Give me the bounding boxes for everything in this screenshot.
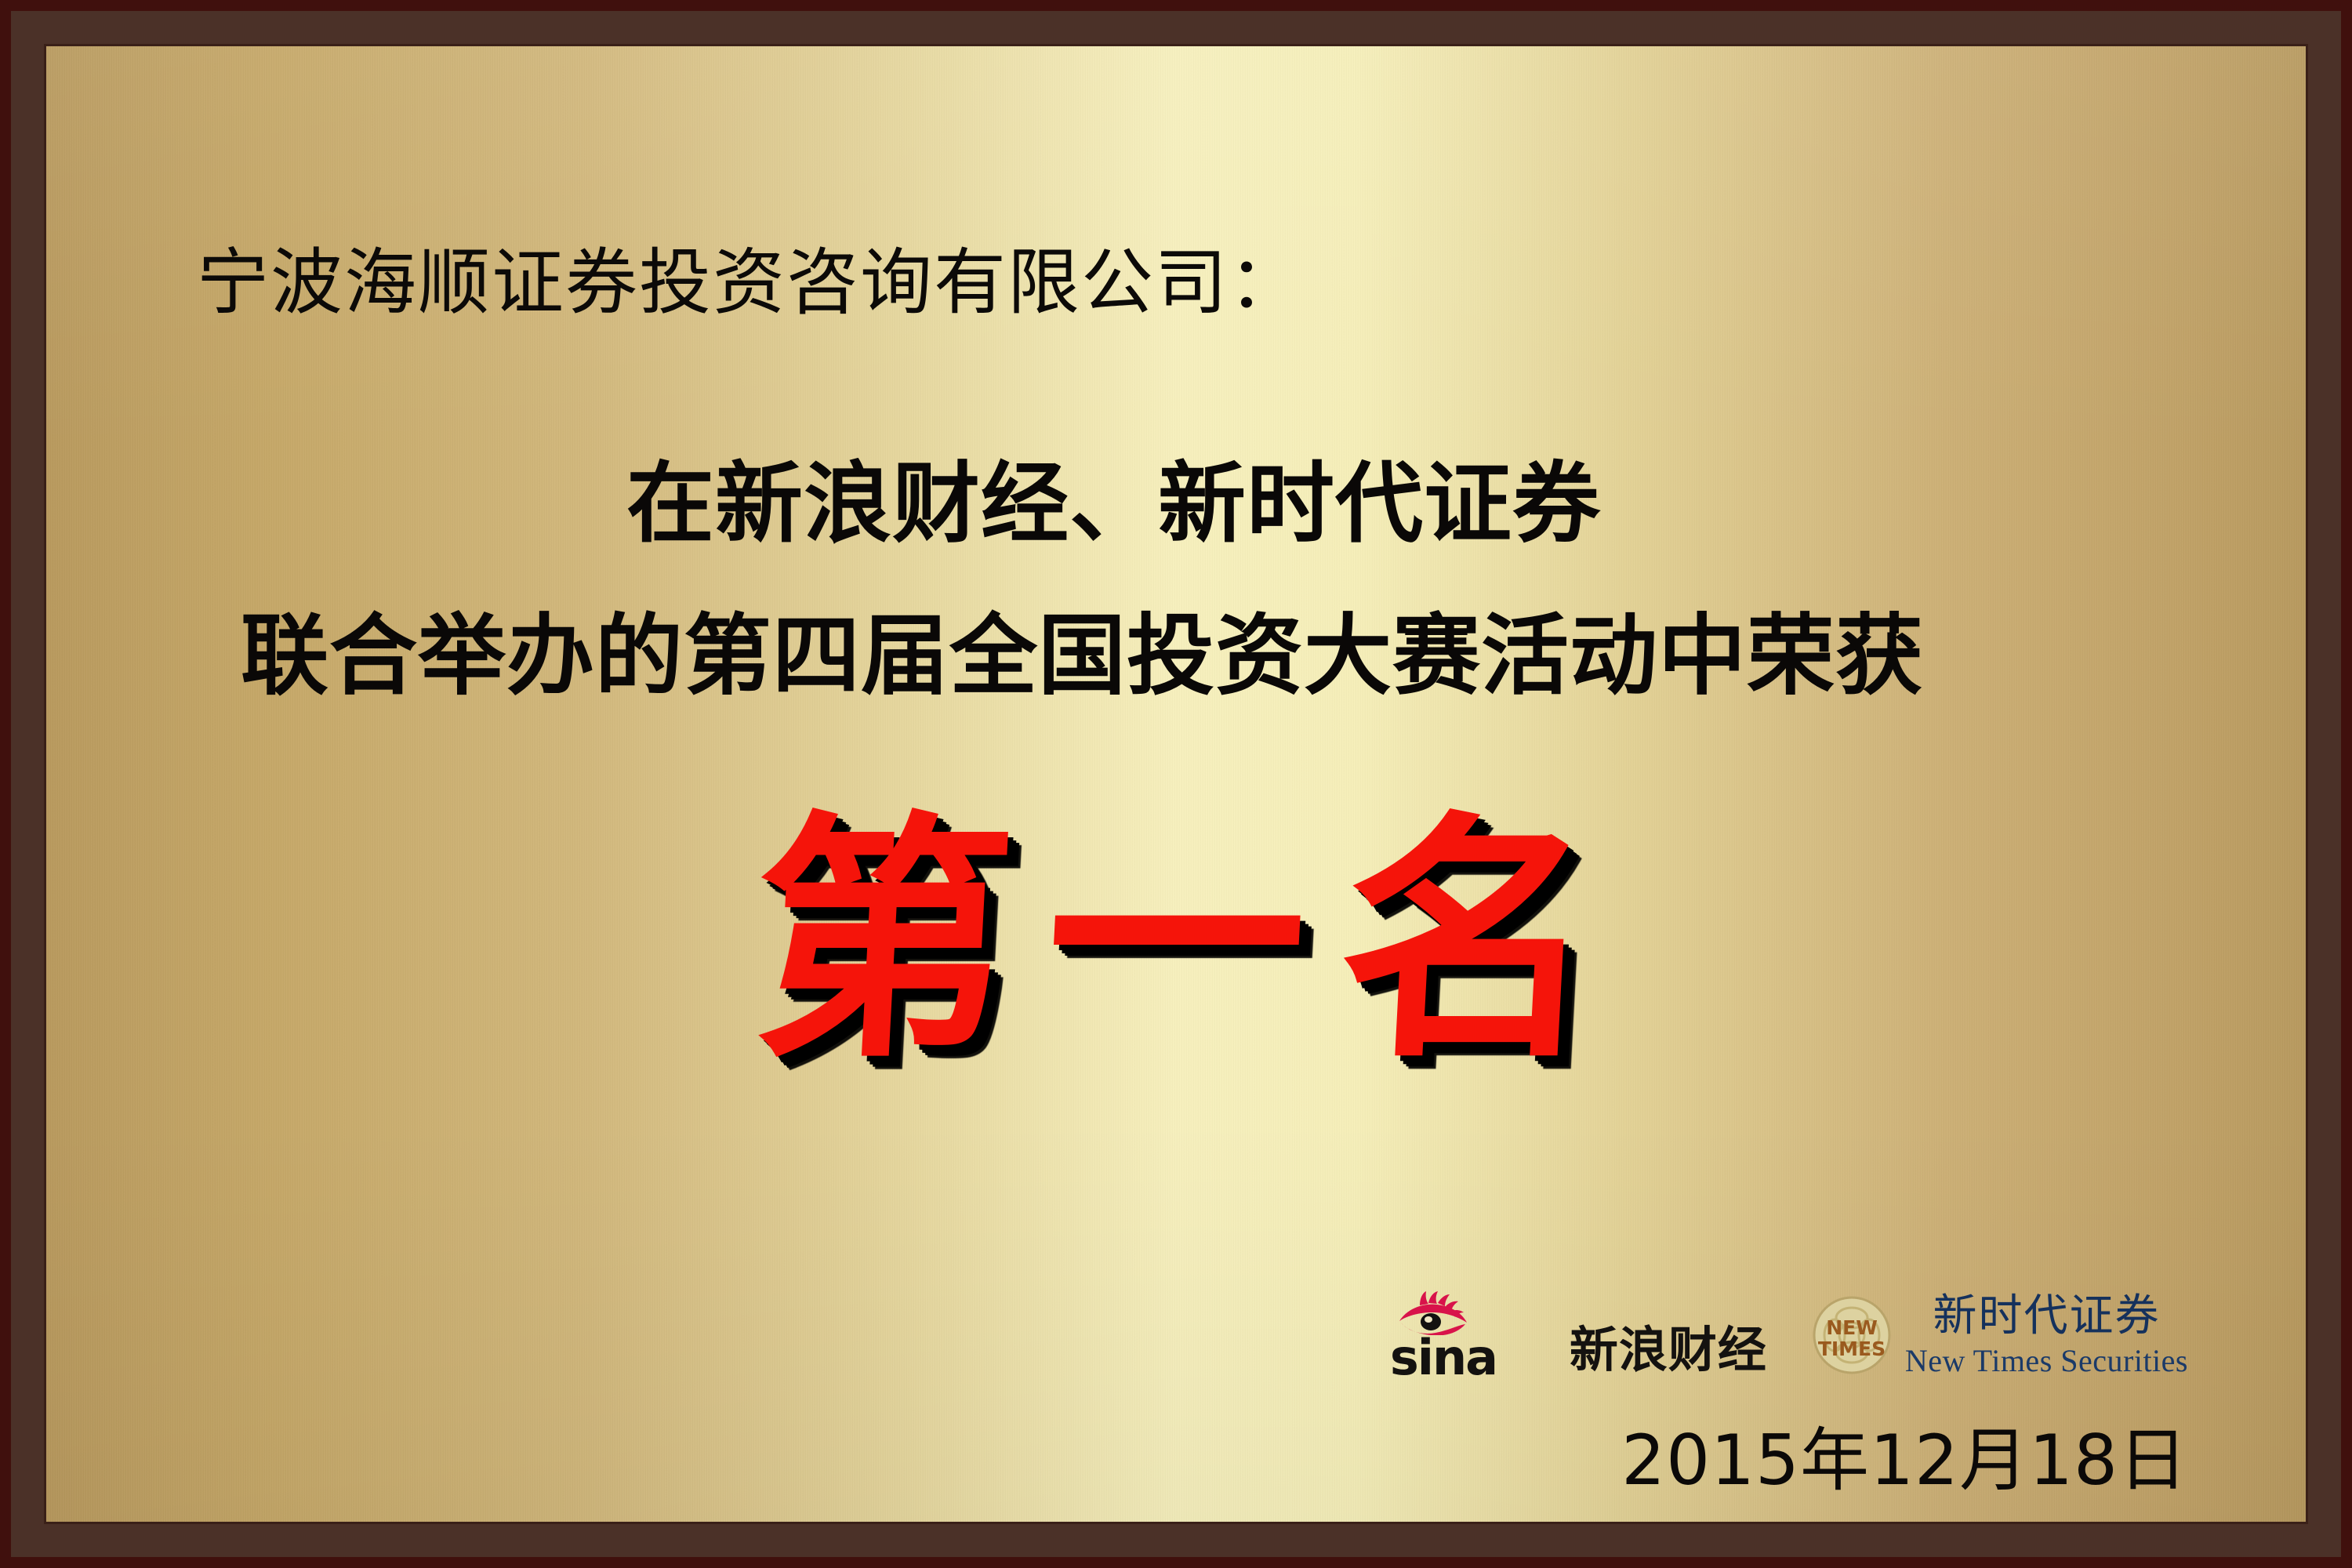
sponsor-logo-row: sina 新浪财经: [1390, 1291, 2188, 1379]
new-times-name-en: New Times Securities: [1905, 1345, 2188, 1377]
award-title: 第一名: [712, 811, 1639, 1069]
plaque-frame-liner: 宁波海顺证券投资咨询有限公司： 在新浪财经、新时代证券 联合举办的第四届全国投资…: [44, 44, 2308, 1524]
plaque-frame-band: 宁波海顺证券投资咨询有限公司： 在新浪财经、新时代证券 联合举办的第四届全国投资…: [11, 11, 2341, 1557]
sina-finance-name-cn: 新浪财经: [1570, 1326, 1767, 1374]
citation-line-2: 联合举办的第四届全国投资大赛活动中荣获: [241, 612, 1924, 700]
sina-wordmark: sina: [1390, 1334, 1497, 1382]
nt-emblem-line2: TIMES: [1818, 1338, 1886, 1360]
new-times-wordmark: 新时代证券 New Times Securities: [1905, 1294, 2188, 1377]
citation-line-1: 在新浪财经、新时代证券: [626, 460, 1601, 548]
new-times-securities-logo: NEW TIMES 新时代证券 New Times Securities: [1811, 1294, 2188, 1377]
award-date: 2015年12月18日: [1621, 1426, 2188, 1495]
sina-finance-logo: sina 新浪财经: [1390, 1291, 1767, 1379]
new-times-name-cn: 新时代证券: [1933, 1294, 2160, 1338]
plaque-content: 宁波海顺证券投资咨询有限公司： 在新浪财经、新时代证券 联合举办的第四届全国投资…: [46, 46, 2306, 1522]
new-times-emblem-icon: NEW TIMES: [1811, 1294, 1893, 1376]
nt-emblem-line1: NEW: [1826, 1316, 1878, 1339]
award-plaque: 宁波海顺证券投资咨询有限公司： 在新浪财经、新时代证券 联合举办的第四届全国投资…: [0, 0, 2352, 1568]
award-title-wrap: 第一名: [46, 811, 2306, 1069]
sina-mark: sina: [1390, 1291, 1559, 1379]
recipient-name: 宁波海顺证券投资咨询有限公司：: [197, 247, 1302, 319]
